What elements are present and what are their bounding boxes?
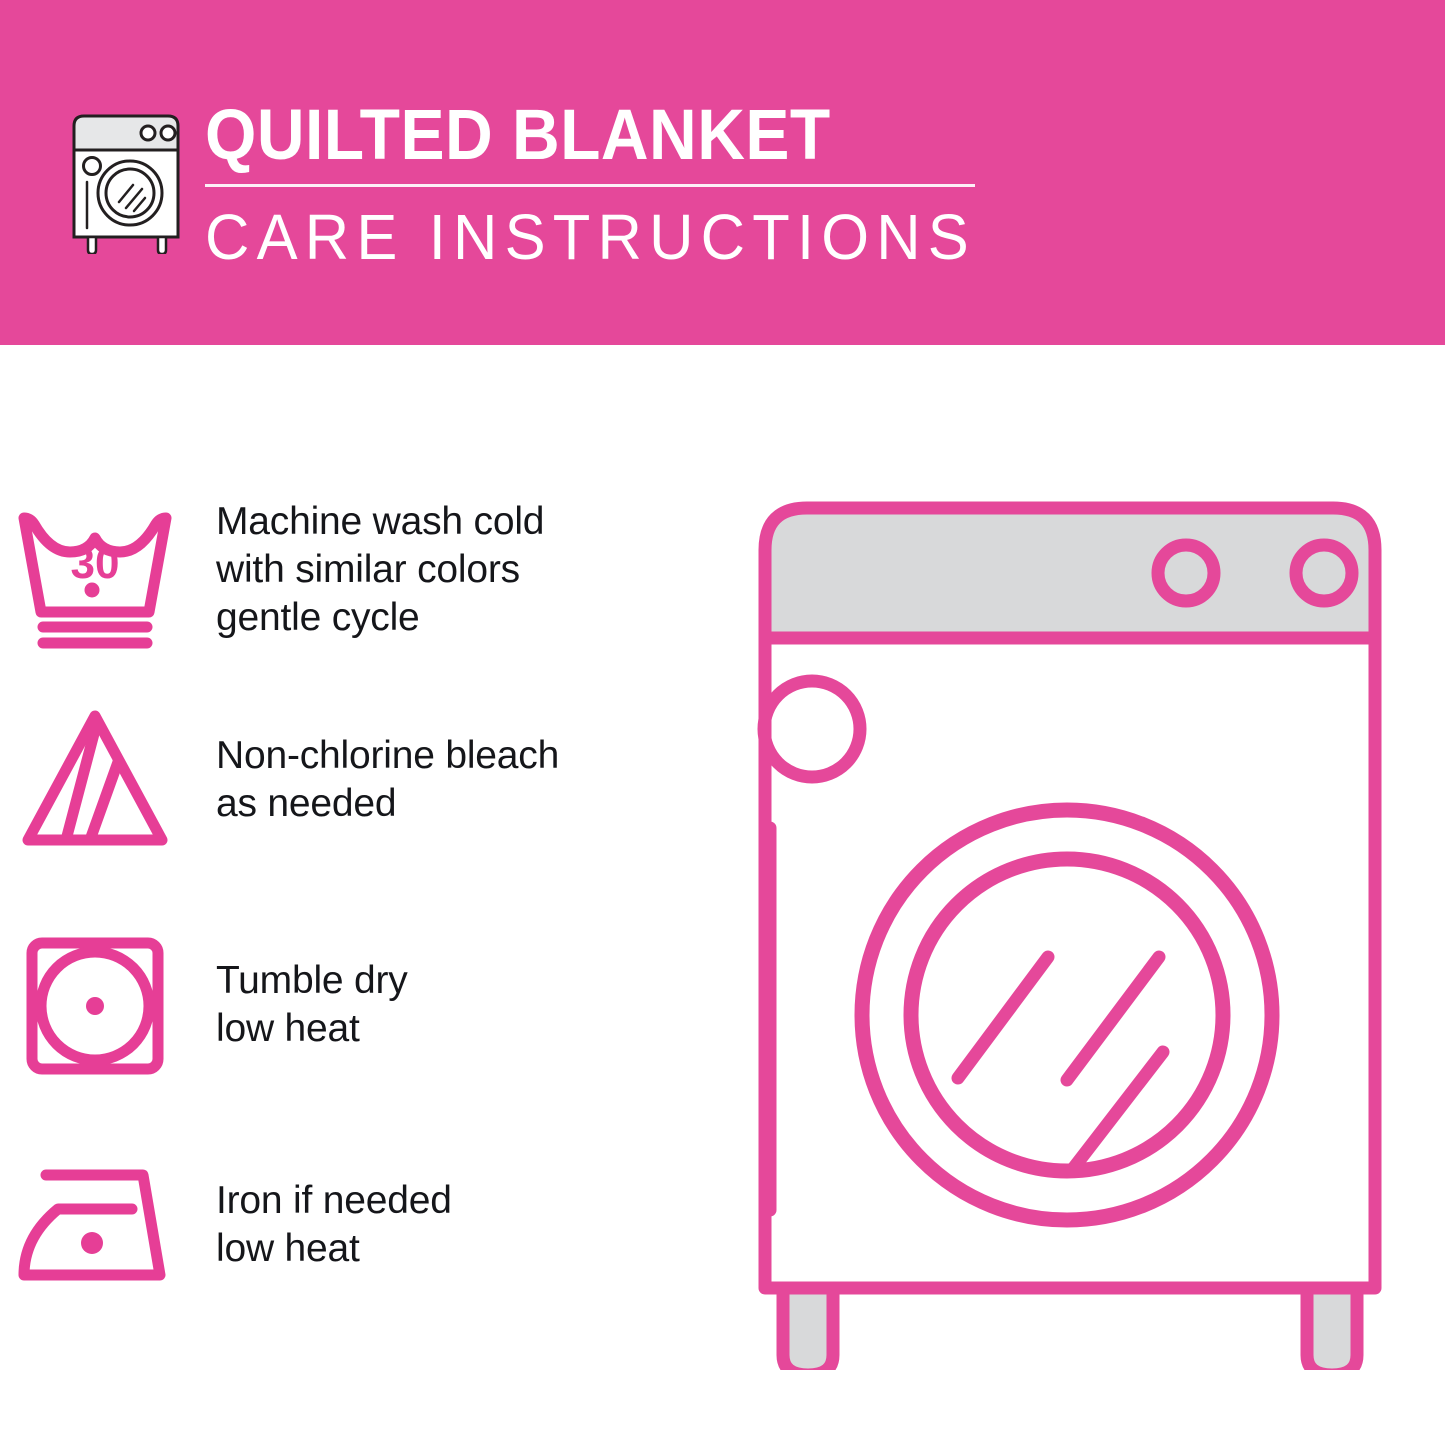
care-item-label: Non-chlorine bleach as needed	[190, 732, 559, 828]
washing-machine-icon	[60, 104, 192, 254]
door-reflections	[958, 957, 1163, 1170]
care-line: low heat	[216, 1225, 452, 1273]
care-line: Tumble dry	[216, 957, 408, 1005]
care-item-bleach: Non-chlorine bleach as needed	[0, 685, 700, 875]
care-line: gentle cycle	[216, 594, 544, 642]
wash-temperature-value: 30	[71, 539, 120, 588]
care-line: Iron if needed	[216, 1177, 452, 1225]
page-subtitle: CARE INSTRUCTIONS	[205, 203, 973, 271]
care-item-label: Iron if needed low heat	[190, 1177, 452, 1273]
care-item-machine-wash: 30 Machine wash cold with similar colors…	[0, 475, 700, 665]
front-load-washing-machine-illustration	[715, 470, 1425, 1370]
care-item-tumble-dry: Tumble dry low heat	[0, 910, 700, 1100]
door-inner-ring	[911, 859, 1223, 1171]
care-line: low heat	[216, 1005, 408, 1053]
care-instructions-page: QUILTED BLANKET CARE INSTRUCTIONS 30	[0, 0, 1445, 1445]
iron-one-dot-icon	[0, 1135, 190, 1315]
care-item-iron: Iron if needed low heat	[0, 1130, 700, 1320]
care-line: with similar colors	[216, 546, 544, 594]
care-line: as needed	[216, 780, 559, 828]
page-title: QUILTED BLANKET	[205, 98, 949, 174]
control-panel	[765, 508, 1375, 638]
bleach-triangle-striped-icon	[0, 690, 190, 870]
door-outer-ring	[862, 810, 1272, 1220]
detergent-port	[764, 681, 860, 777]
care-line: Machine wash cold	[216, 498, 544, 546]
care-item-label: Tumble dry low heat	[190, 957, 408, 1053]
foot-right	[1307, 1288, 1357, 1370]
foot-left	[783, 1288, 833, 1370]
page-header: QUILTED BLANKET CARE INSTRUCTIONS	[0, 0, 1445, 345]
tumble-dry-square-icon	[0, 915, 190, 1095]
title-divider	[205, 184, 975, 187]
care-line: Non-chlorine bleach	[216, 732, 559, 780]
wash-tub-30-icon: 30	[0, 480, 190, 660]
header-title-group: QUILTED BLANKET CARE INSTRUCTIONS	[205, 98, 1005, 271]
care-instruction-list: 30 Machine wash cold with similar colors…	[0, 345, 700, 1445]
care-item-label: Machine wash cold with similar colors ge…	[190, 498, 544, 642]
